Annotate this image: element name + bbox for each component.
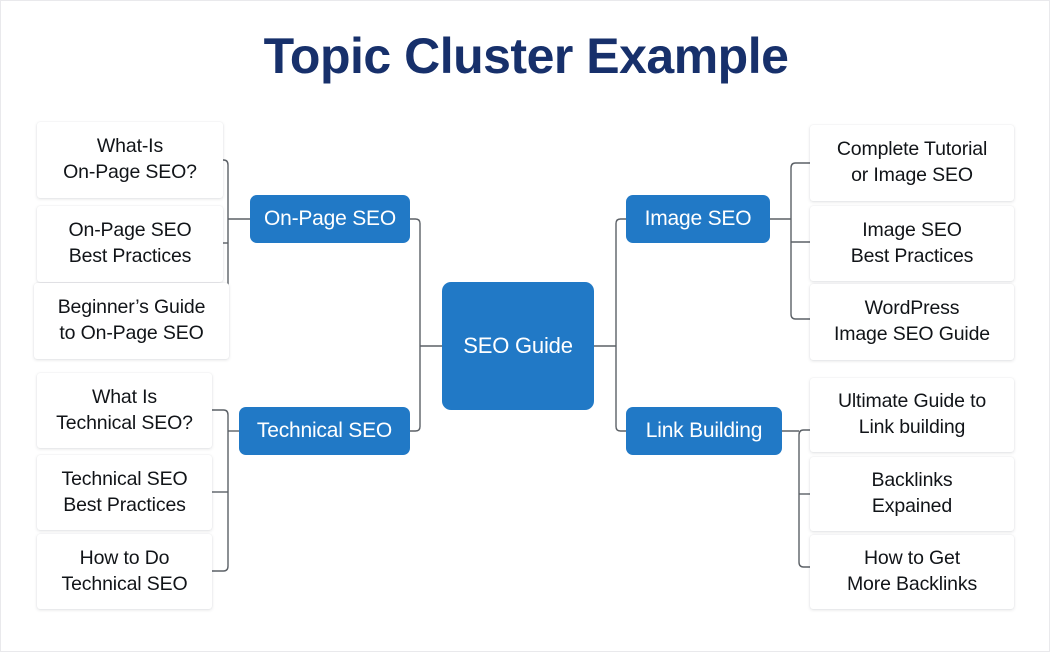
leaf-card[interactable]: Image SEO Best Practices (810, 206, 1014, 281)
connector-group-hub-left (410, 219, 442, 431)
leaf-line-2: Technical SEO? (56, 411, 193, 437)
leaf-line-1: Technical SEO (62, 467, 188, 493)
leaf-line-2: Expained (871, 494, 952, 520)
bracket-spine-technical-seo (212, 410, 228, 571)
connector-group-technical-seo (212, 410, 239, 571)
leaf-line-1: On-Page SEO (69, 218, 192, 244)
leaf-line-1: What Is (56, 385, 193, 411)
leaf-line-2: More Backlinks (847, 572, 977, 598)
leaf-card[interactable]: Ultimate Guide to Link building (810, 378, 1014, 452)
leaf-line-1: What-Is (63, 134, 197, 160)
leaf-line-1: How to Get (847, 546, 977, 572)
leaf-line-2: Best Practices (69, 244, 192, 270)
branch-node-label: Link Building (646, 419, 762, 443)
bracket-spine-image-seo (791, 163, 810, 319)
leaf-line-1: Image SEO (851, 218, 974, 244)
leaf-card[interactable]: WordPress Image SEO Guide (810, 284, 1014, 360)
leaf-line-2: or Image SEO (837, 163, 987, 189)
leaf-line-2: Best Practices (62, 493, 188, 519)
leaf-card[interactable]: What Is Technical SEO? (37, 373, 212, 448)
connector-group-link-building (782, 430, 810, 567)
branch-node-technical-seo[interactable]: Technical SEO (239, 407, 410, 455)
leaf-line-2: Link building (838, 415, 986, 441)
leaf-card[interactable]: Beginner’s Guide to On-Page SEO (34, 283, 229, 359)
leaf-line-1: Beginner’s Guide (58, 295, 206, 321)
leaf-line-1: Ultimate Guide to (838, 389, 986, 415)
leaf-card[interactable]: What-Is On-Page SEO? (37, 122, 223, 198)
leaf-line-2: Image SEO Guide (834, 322, 990, 348)
leaf-card[interactable]: On-Page SEO Best Practices (37, 206, 223, 282)
bracket-spine-hub-left (410, 219, 420, 431)
leaf-card[interactable]: How to Get More Backlinks (810, 535, 1014, 609)
leaf-line-1: Backlinks (871, 468, 952, 494)
connector-group-image-seo (770, 163, 810, 319)
branch-node-image-seo[interactable]: Image SEO (626, 195, 770, 243)
connector-group-hub-right (594, 219, 626, 431)
leaf-line-1: WordPress (834, 296, 990, 322)
branch-node-link-building[interactable]: Link Building (626, 407, 782, 455)
branch-node-label: Technical SEO (257, 419, 392, 443)
leaf-card[interactable]: How to Do Technical SEO (37, 534, 212, 609)
branch-node-label: On-Page SEO (264, 207, 396, 231)
leaf-card[interactable]: Technical SEO Best Practices (37, 455, 212, 530)
leaf-card[interactable]: Backlinks Expained (810, 457, 1014, 531)
leaf-line-2: On-Page SEO? (63, 160, 197, 186)
leaf-line-1: Complete Tutorial (837, 137, 987, 163)
hub-node-label: SEO Guide (463, 333, 572, 359)
leaf-line-2: Technical SEO (62, 572, 188, 598)
bracket-spine-hub-right (616, 219, 626, 431)
branch-node-label: Image SEO (645, 207, 752, 231)
hub-node-seo-guide[interactable]: SEO Guide (442, 282, 594, 410)
leaf-line-2: Best Practices (851, 244, 974, 270)
leaf-card[interactable]: Complete Tutorial or Image SEO (810, 125, 1014, 201)
bracket-spine-link-building (799, 430, 810, 567)
leaf-line-2: to On-Page SEO (58, 321, 206, 347)
diagram-canvas: Topic Cluster Example (0, 0, 1050, 652)
leaf-line-1: How to Do (62, 546, 188, 572)
branch-node-on-page-seo[interactable]: On-Page SEO (250, 195, 410, 243)
